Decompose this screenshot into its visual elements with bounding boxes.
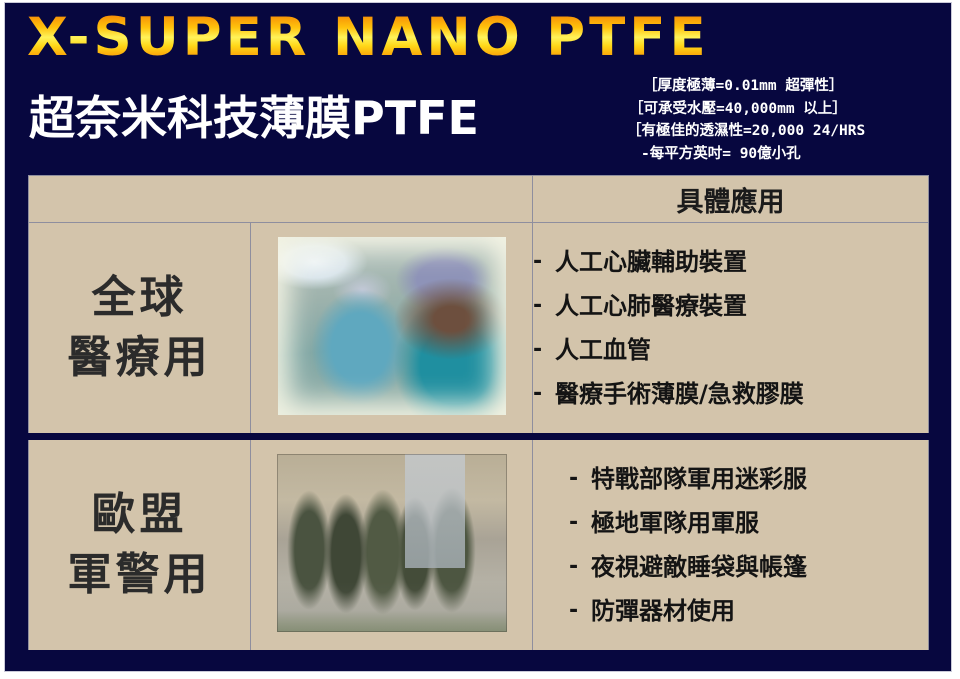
applications-table: 具體應用 全球 醫療用 - 人工心臟輔助裝置 -: [28, 175, 929, 657]
table-row: 全球 醫療用 - 人工心臟輔助裝置 - 人工心肺醫療裝置: [29, 223, 929, 437]
application-text: 人工心臟輔助裝置: [555, 240, 747, 284]
list-item: - 人工心肺醫療裝置: [533, 284, 928, 328]
row-applications-military: - 特戰部隊軍用迷彩服 - 極地軍隊用軍服 - 夜視避敵睡袋與帳篷 - 防彈器材…: [533, 436, 929, 653]
slide-headline: X-SUPER NANO PTFE: [27, 5, 710, 71]
bullet-dash-icon: -: [569, 589, 591, 633]
row-label-medical-line1: 全球: [29, 268, 250, 328]
bullet-dash-icon: -: [533, 328, 555, 372]
bullet-dash-icon: -: [569, 501, 591, 545]
spec-line-thickness: ［厚度極薄=0.01mm 超彈性］: [627, 75, 927, 98]
bullet-dash-icon: -: [533, 372, 555, 416]
row-label-medical-line2: 醫療用: [29, 328, 250, 388]
bullet-dash-icon: -: [533, 284, 555, 328]
application-text: 夜視避敵睡袋與帳篷: [591, 545, 807, 589]
surgeons-operating-room-photo: [278, 237, 506, 415]
application-text: 防彈器材使用: [591, 589, 735, 633]
specification-block: ［厚度極薄=0.01mm 超彈性］ ［可承受水壓=40,000mm 以上］ ［有…: [627, 75, 927, 165]
row-applications-medical: - 人工心臟輔助裝置 - 人工心肺醫療裝置 - 人工血管 - 醫療手術薄膜/急救…: [533, 223, 929, 437]
table-header-row: 具體應用: [29, 176, 929, 223]
application-text: 人工心肺醫療裝置: [555, 284, 747, 328]
header-cell-applications: 具體應用: [533, 176, 929, 223]
list-item: - 防彈器材使用: [569, 589, 928, 633]
application-text: 人工血管: [555, 328, 651, 372]
row-image-cell-military: [251, 436, 533, 653]
bullet-dash-icon: -: [569, 457, 591, 501]
special-forces-soldiers-photo: [277, 454, 507, 632]
list-item: - 極地軍隊用軍服: [569, 501, 928, 545]
presentation-slide: X-SUPER NANO PTFE 超奈米科技薄膜PTFE ［厚度極薄=0.01…: [5, 3, 951, 671]
row-label-military-line2: 軍警用: [29, 545, 250, 605]
list-item: - 醫療手術薄膜/急救膠膜: [533, 372, 928, 416]
bullet-dash-icon: -: [533, 240, 555, 284]
row-image-cell-medical: [251, 223, 533, 437]
photo-frame: [278, 237, 506, 415]
list-item: - 人工血管: [533, 328, 928, 372]
spec-line-pores: -每平方英吋= 90億小孔: [627, 143, 927, 166]
header-cell-blank: [29, 176, 533, 223]
list-item: - 特戰部隊軍用迷彩服: [569, 457, 928, 501]
list-item: - 夜視避敵睡袋與帳篷: [569, 545, 928, 589]
slide-subheadline: 超奈米科技薄膜PTFE: [29, 89, 479, 147]
spec-line-water-pressure: ［可承受水壓=40,000mm 以上］: [627, 98, 927, 121]
spec-line-breathability: ［有極佳的透濕性=20,000 24/HRS: [627, 120, 927, 143]
list-item: - 人工心臟輔助裝置: [533, 240, 928, 284]
row-label-military-line1: 歐盟: [29, 485, 250, 545]
row-label-military: 歐盟 軍警用: [29, 436, 251, 653]
application-text: 特戰部隊軍用迷彩服: [591, 457, 807, 501]
application-text: 醫療手術薄膜/急救膠膜: [555, 372, 804, 416]
application-text: 極地軍隊用軍服: [591, 501, 759, 545]
table-row: 歐盟 軍警用 - 特戰部隊軍用迷彩服 - 極地軍隊用軍服: [29, 436, 929, 653]
photo-frame: [277, 454, 507, 632]
bullet-dash-icon: -: [569, 545, 591, 589]
row-label-medical: 全球 醫療用: [29, 223, 251, 437]
